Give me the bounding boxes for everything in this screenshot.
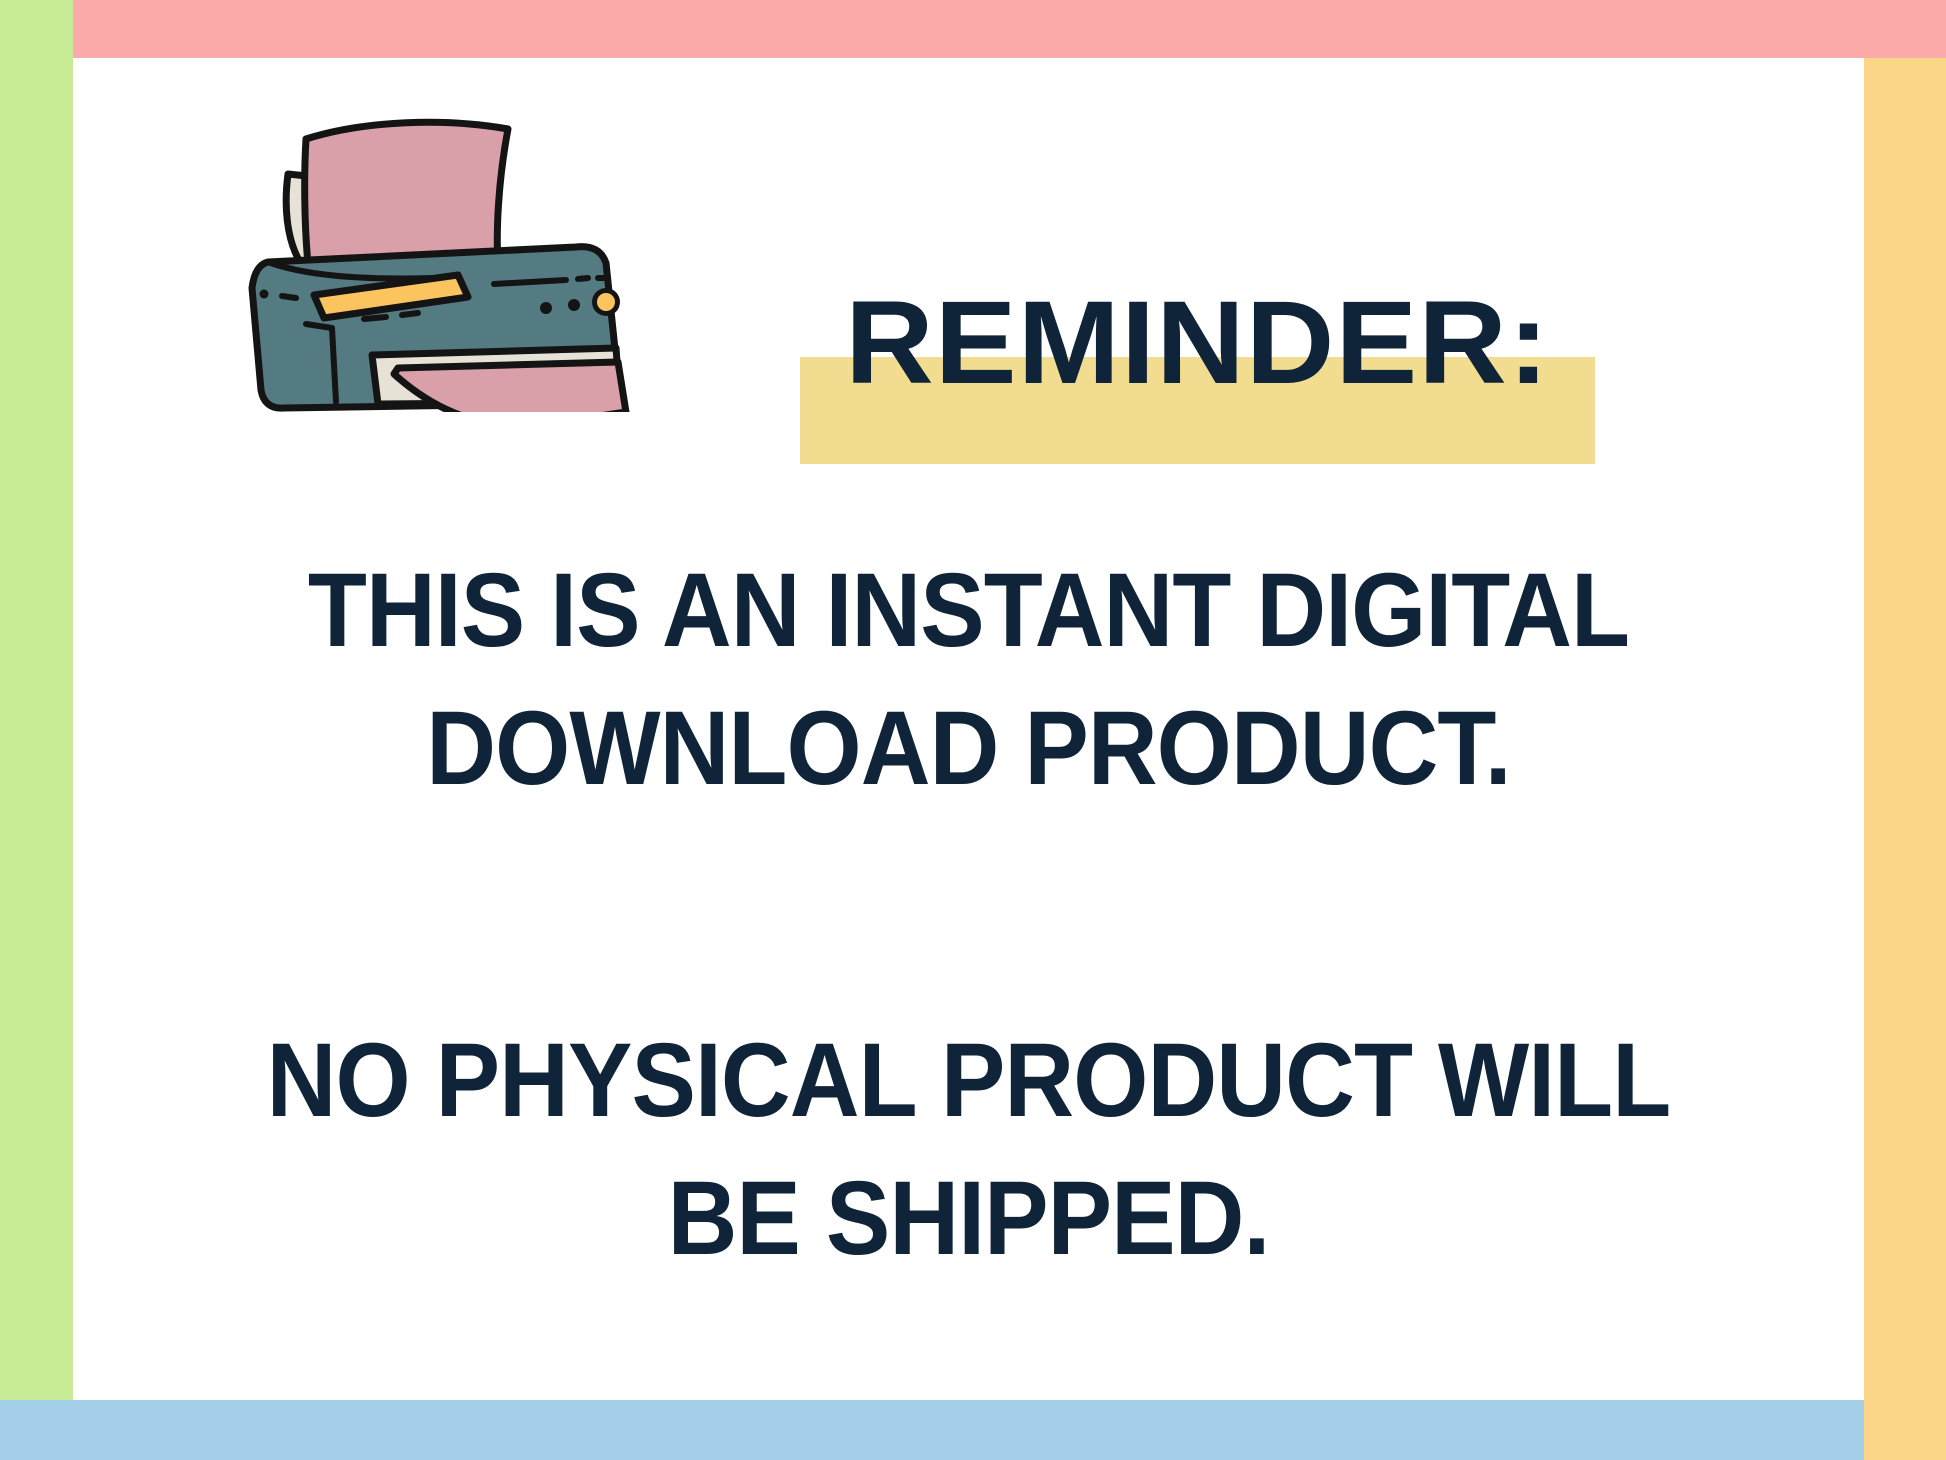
message-no-shipping: NO PHYSICAL PRODUCT WILL BE SHIPPED. — [73, 1012, 1864, 1288]
printer-seam-dash-a — [364, 317, 386, 319]
printer-seam-dash-c — [494, 280, 566, 284]
page-title: REMINDER: — [784, 280, 1611, 406]
printer-dot-left — [260, 290, 269, 299]
printer-seam-dash-b — [402, 313, 418, 315]
printer-dot-b — [568, 299, 580, 311]
message-line: DOWNLOAD PRODUCT. — [145, 680, 1793, 818]
printer-power-button-orange — [592, 288, 620, 316]
message-line: NO PHYSICAL PRODUCT WILL — [145, 1012, 1793, 1150]
message-instant-download: THIS IS AN INSTANT DIGITAL DOWNLOAD PROD… — [73, 542, 1864, 818]
message-line: THIS IS AN INSTANT DIGITAL — [145, 542, 1793, 680]
printer-illustration — [246, 112, 676, 412]
paper-feed-sheet-pink — [305, 122, 508, 264]
printer-dot-a — [540, 302, 552, 314]
printer-seam-dash-d — [578, 278, 588, 279]
border-bar-right-yellow — [1864, 58, 1946, 1460]
printer-seam-dash-f — [282, 296, 296, 298]
border-bar-bottom-blue — [0, 1400, 1864, 1460]
border-bar-left-green — [0, 0, 73, 1400]
poster-canvas: REMINDER: THIS IS AN INSTANT DIGITAL DOW… — [0, 0, 1946, 1460]
border-bar-top-pink — [73, 0, 1946, 58]
headline-group: REMINDER: — [800, 280, 1600, 470]
message-line: BE SHIPPED. — [145, 1150, 1793, 1288]
